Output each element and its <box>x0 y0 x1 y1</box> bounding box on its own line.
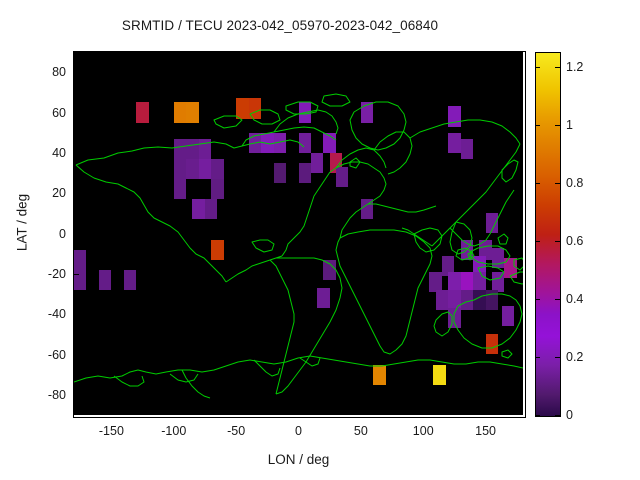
x-tick-mark <box>361 410 362 415</box>
colorbar-tick-mark <box>555 415 560 416</box>
y-tick-label: 40 <box>20 146 66 160</box>
y-tick-mark <box>74 274 79 275</box>
y-tick-label: -40 <box>20 307 66 321</box>
x-tick-label: 100 <box>413 424 434 438</box>
colorbar-tick-label: 0.4 <box>566 292 583 306</box>
y-tick-mark <box>74 113 79 114</box>
colorbar-tick-label: 0.2 <box>566 350 583 364</box>
x-tick-label: -50 <box>227 424 245 438</box>
x-tick-label: -100 <box>161 424 186 438</box>
y-tick-label: -80 <box>20 388 66 402</box>
y-tick-label: -60 <box>20 348 66 362</box>
colorbar-tick-mark <box>555 183 560 184</box>
colorbar-tick-mark <box>555 125 560 126</box>
x-tick-mark <box>111 410 112 415</box>
colorbar-tick-mark <box>535 299 540 300</box>
colorbar-tick-mark <box>555 241 560 242</box>
colorbar-tick-mark <box>535 241 540 242</box>
y-tick-mark <box>74 395 79 396</box>
colorbar[interactable] <box>535 52 561 417</box>
x-tick-label: -150 <box>99 424 124 438</box>
coastline-overlay <box>74 52 523 415</box>
colorbar-tick-mark <box>535 357 540 358</box>
y-tick-mark <box>74 314 79 315</box>
y-tick-mark <box>74 153 79 154</box>
colorbar-tick-label: 1 <box>566 118 573 132</box>
colorbar-tick-label: 1.2 <box>566 60 583 74</box>
map-plot-area[interactable] <box>74 52 523 415</box>
x-tick-label: 50 <box>354 424 368 438</box>
x-axis-label: LON / deg <box>74 452 523 467</box>
y-tick-mark <box>74 193 79 194</box>
x-tick-mark <box>236 410 237 415</box>
colorbar-tick-mark <box>535 67 540 68</box>
x-tick-mark <box>486 410 487 415</box>
x-tick-mark <box>423 410 424 415</box>
y-tick-label: 80 <box>20 65 66 79</box>
colorbar-tick-mark <box>535 125 540 126</box>
colorbar-tick-mark <box>555 299 560 300</box>
colorbar-tick-label: 0.8 <box>566 176 583 190</box>
y-tick-mark <box>74 234 79 235</box>
colorbar-tick-mark <box>555 67 560 68</box>
srmtid-tecu-map-figure: SRMTID / TECU 2023-042_05970-2023-042_06… <box>0 0 640 480</box>
y-tick-mark <box>74 355 79 356</box>
colorbar-tick-mark <box>535 183 540 184</box>
x-tick-mark <box>174 410 175 415</box>
y-tick-label: 60 <box>20 106 66 120</box>
figure-title: SRMTID / TECU 2023-042_05970-2023-042_06… <box>0 18 560 33</box>
x-tick-label: 150 <box>475 424 496 438</box>
y-axis-label: LAT / deg <box>15 173 30 273</box>
x-tick-mark <box>299 410 300 415</box>
colorbar-tick-mark <box>555 357 560 358</box>
colorbar-tick-label: 0.6 <box>566 234 583 248</box>
colorbar-tick-mark <box>535 415 540 416</box>
y-tick-mark <box>74 72 79 73</box>
colorbar-tick-label: 0 <box>566 408 573 422</box>
x-tick-label: 0 <box>295 424 302 438</box>
